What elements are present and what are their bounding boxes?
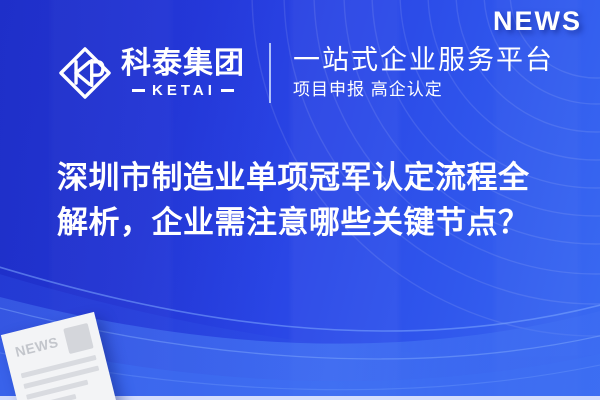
brand-logo[interactable]: 科泰集团 KETAI <box>57 45 245 101</box>
news-banner: NEWS 科泰集团 KETAI 一站式企业服务平台 <box>0 0 600 400</box>
logo-name-en: KETAI <box>145 83 221 98</box>
newspaper-heading: NEWS <box>13 331 60 359</box>
image-placeholder-icon <box>63 323 94 354</box>
page-title: 深圳市制造业单项冠军认定流程全解析，企业需注意哪些关键节点？ <box>57 155 557 245</box>
brand-tagline: 一站式企业服务平台 项目申报 高企认定 <box>293 45 554 100</box>
tagline-sub: 项目申报 高企认定 <box>293 79 554 100</box>
logo-dash-right-icon <box>221 89 234 92</box>
logo-name-cn: 科泰集团 <box>121 48 245 80</box>
ketai-kp-diamond-logo-icon <box>57 45 113 101</box>
tagline-main: 一站式企业服务平台 <box>293 45 554 75</box>
banner-header: 科泰集团 KETAI 一站式企业服务平台 项目申报 高企认定 <box>0 34 600 112</box>
logo-dash-left-icon <box>132 89 145 92</box>
logo-name-en-row: KETAI <box>121 83 245 98</box>
logo-wordmark: 科泰集团 KETAI <box>121 48 245 98</box>
news-badge: NEWS <box>493 6 582 37</box>
vertical-divider-icon <box>269 43 271 103</box>
